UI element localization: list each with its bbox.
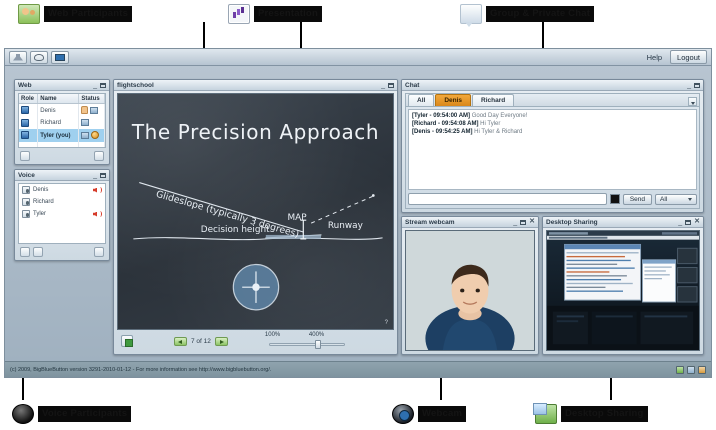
people-icon bbox=[18, 4, 40, 24]
status-audio-icon[interactable] bbox=[698, 366, 706, 374]
participants-toolbar-button[interactable] bbox=[9, 51, 27, 64]
label-runway: Runway bbox=[328, 221, 363, 231]
zoom-min-label: 100% bbox=[265, 332, 280, 338]
chat-message-header: [Tyler - 09:54:00 AM] bbox=[412, 113, 470, 119]
window-titlebar[interactable]: flightschool _ bbox=[114, 80, 397, 91]
slide-page-label: 7 of 12 bbox=[191, 338, 211, 345]
webcam-frame bbox=[406, 231, 534, 350]
send-button[interactable]: Send bbox=[623, 194, 652, 205]
callout-web-participants: Web Participants bbox=[18, 4, 132, 24]
voice-participants-footer bbox=[18, 245, 106, 258]
callout-desktop-sharing: Desktop Sharing bbox=[535, 404, 648, 424]
maximize-icon[interactable] bbox=[685, 220, 691, 225]
presentation-window: flightschool _ The Precision Approach bbox=[113, 79, 398, 355]
screenshot-root: Web Participants Presentation Group & Pr… bbox=[0, 0, 716, 430]
callout-voice-participants: Voice Participants bbox=[12, 404, 131, 424]
shared-screen-frame bbox=[547, 231, 699, 350]
window-titlebar[interactable]: Web _ bbox=[15, 80, 109, 91]
microphone-icon[interactable] bbox=[22, 210, 30, 218]
column-status: Status bbox=[79, 94, 105, 104]
leader-line-desktop-sharing bbox=[610, 378, 612, 400]
slide-navigation: 7 of 12 bbox=[174, 337, 228, 346]
chat-message-log[interactable]: [Tyler - 09:54:00 AM] Good Day Everyone!… bbox=[408, 109, 697, 190]
callout-label: Web Participants bbox=[44, 6, 132, 22]
window-title: flightschool bbox=[117, 82, 154, 89]
chat-message: [Richard - 09:54:08 AM] Hi Tyler bbox=[412, 120, 693, 128]
table-row-empty bbox=[19, 142, 105, 148]
chart-icon bbox=[228, 4, 250, 24]
window-title: Stream webcam bbox=[405, 219, 455, 226]
chat-message-header: [Denis - 09:54:25 AM] bbox=[412, 129, 472, 135]
app-desktop: Web _ Role Name Status bbox=[5, 66, 711, 362]
zoom-slider-track[interactable] bbox=[269, 343, 345, 346]
window-controls: _ ✕ bbox=[513, 219, 535, 226]
callout-label: Voice Participants bbox=[38, 406, 131, 422]
audio-toolbar-button[interactable] bbox=[30, 51, 48, 64]
logout-button[interactable]: Logout bbox=[670, 50, 707, 64]
settings-button[interactable] bbox=[94, 151, 104, 161]
callout-label: Desktop Sharing bbox=[561, 406, 648, 422]
microphone-icon[interactable] bbox=[22, 186, 30, 194]
chevron-down-icon[interactable] bbox=[688, 97, 697, 106]
viewer-icon bbox=[21, 119, 29, 127]
raise-hand-icon[interactable] bbox=[81, 106, 88, 114]
list-item[interactable]: Denis bbox=[19, 184, 105, 196]
tab-richard[interactable]: Richard bbox=[472, 94, 514, 106]
minimize-icon[interactable]: _ bbox=[381, 82, 385, 89]
statusbar-icons bbox=[676, 366, 706, 374]
window-title: Web bbox=[18, 82, 32, 89]
chevron-down-icon bbox=[688, 198, 692, 201]
presentation-body: The Precision Approach bbox=[117, 93, 394, 330]
window-title: Desktop Sharing bbox=[546, 219, 598, 226]
help-link[interactable]: Help bbox=[642, 52, 667, 63]
app-statusbar: (c) 2009, BigBlueButton version 3291-201… bbox=[5, 361, 711, 377]
chat-window: Chat _ All Denis Richard [ bbox=[401, 79, 704, 213]
speaker-icon bbox=[93, 210, 102, 218]
chat-message-text: Hi Tyler & Richard bbox=[474, 129, 522, 135]
cell-role bbox=[19, 129, 38, 142]
close-icon[interactable]: ✕ bbox=[529, 219, 535, 225]
web-participants-body: Role Name Status Denis bbox=[18, 93, 106, 148]
slide-corner-mark: ? bbox=[385, 320, 388, 326]
maximize-icon[interactable] bbox=[694, 83, 700, 88]
tab-all[interactable]: All bbox=[408, 94, 434, 106]
maximize-icon[interactable] bbox=[388, 83, 394, 88]
callout-webcam: Webcam bbox=[392, 404, 466, 424]
raise-hand-button[interactable] bbox=[20, 151, 30, 161]
chat-message: [Tyler - 09:54:00 AM] Good Day Everyone! bbox=[412, 112, 693, 120]
zoom-max-label: 400% bbox=[309, 332, 324, 338]
close-icon[interactable]: ✕ bbox=[694, 219, 700, 225]
leader-line-voice-participants bbox=[22, 378, 24, 400]
chat-message-text: Good Day Everyone! bbox=[472, 113, 528, 119]
maximize-icon[interactable] bbox=[100, 83, 106, 88]
slide-diagram: Glideslope (typically 3 degrees) MAP Dec… bbox=[118, 94, 393, 329]
shared-screen-image bbox=[547, 231, 699, 350]
webcam-icon bbox=[392, 404, 414, 424]
list-item[interactable]: Tyler bbox=[19, 208, 105, 220]
minimize-icon[interactable]: _ bbox=[678, 219, 682, 226]
presentation-toolbar: 7 of 12 100% 400% bbox=[117, 331, 394, 351]
window-titlebar[interactable]: Stream webcam _ ✕ bbox=[402, 217, 538, 228]
zoom-slider-thumb[interactable] bbox=[315, 340, 321, 349]
label-decision-height: Decision height bbox=[201, 225, 270, 235]
voice-settings-button[interactable] bbox=[94, 247, 104, 257]
table-row[interactable]: Richard bbox=[19, 117, 105, 129]
chat-body: All Denis Richard [Tyler - 09:54:00 AM] … bbox=[405, 93, 700, 209]
mute-all-button[interactable] bbox=[20, 247, 30, 257]
window-titlebar[interactable]: Voice _ bbox=[15, 170, 109, 181]
voice-participant-name: Denis bbox=[33, 187, 48, 193]
callout-presentation: Presentation bbox=[228, 4, 322, 24]
table-row[interactable]: Denis bbox=[19, 104, 105, 118]
screen-share-icon bbox=[535, 404, 557, 424]
leader-line-webcam bbox=[440, 378, 442, 400]
minimize-icon[interactable]: _ bbox=[93, 82, 97, 89]
tab-denis[interactable]: Denis bbox=[435, 94, 471, 106]
cell-status bbox=[79, 117, 105, 129]
window-controls: _ bbox=[93, 82, 106, 89]
callout-label: Presentation bbox=[254, 6, 322, 22]
next-slide-button[interactable] bbox=[215, 337, 228, 346]
status-screen-icon[interactable] bbox=[676, 366, 684, 374]
user-icon bbox=[13, 54, 23, 61]
window-title: Chat bbox=[405, 82, 419, 89]
cell-role bbox=[19, 117, 38, 129]
voice-participant-name: Richard bbox=[33, 199, 54, 205]
cell-role bbox=[19, 104, 38, 118]
cell-status bbox=[79, 129, 105, 142]
column-role: Role bbox=[19, 94, 38, 104]
text-color-swatch[interactable] bbox=[610, 194, 620, 204]
display-icon bbox=[55, 54, 65, 61]
slide-canvas[interactable]: The Precision Approach bbox=[118, 94, 393, 329]
cell-name: Tyler (you) bbox=[38, 129, 79, 142]
chat-recipient-value: All bbox=[660, 196, 667, 203]
chat-tabs: All Denis Richard bbox=[406, 94, 699, 107]
voice-participant-name: Tyler bbox=[33, 211, 46, 217]
desktop-sharing-body bbox=[546, 230, 700, 351]
webcam-body bbox=[405, 230, 535, 351]
chat-message-text: Hi Tyler bbox=[480, 121, 500, 127]
window-titlebar[interactable]: Desktop Sharing _ ✕ bbox=[543, 217, 703, 228]
presenter-icon[interactable] bbox=[90, 107, 98, 114]
maximize-icon[interactable] bbox=[520, 220, 526, 225]
minimize-icon[interactable]: _ bbox=[513, 219, 517, 226]
callout-label: Group & Private Chat bbox=[486, 6, 594, 22]
cell-status bbox=[79, 104, 105, 118]
microphone-icon bbox=[12, 404, 34, 424]
previous-slide-button[interactable] bbox=[174, 337, 187, 346]
chat-input-row: Send All bbox=[408, 192, 697, 206]
chat-message-header: [Richard - 09:54:08 AM] bbox=[412, 121, 478, 127]
status-video-icon[interactable] bbox=[687, 366, 695, 374]
presenter-icon[interactable] bbox=[81, 132, 89, 139]
window-title: Voice bbox=[18, 172, 35, 179]
mute-self-button[interactable] bbox=[33, 247, 43, 257]
chat-message: [Denis - 09:54:25 AM] Hi Tyler & Richard bbox=[412, 128, 693, 136]
copyright-text: (c) 2009, BigBlueButton version 3291-201… bbox=[10, 367, 271, 373]
minimize-icon[interactable]: _ bbox=[93, 172, 97, 179]
column-name: Name bbox=[38, 94, 79, 104]
cell-name: Denis bbox=[38, 104, 79, 118]
maximize-icon[interactable] bbox=[100, 173, 106, 178]
chat-input[interactable] bbox=[408, 193, 607, 205]
window-controls: _ ✕ bbox=[678, 219, 700, 226]
webcam-window: Stream webcam _ ✕ bbox=[401, 216, 539, 355]
list-item[interactable]: Richard bbox=[19, 196, 105, 208]
presenter-icon[interactable] bbox=[81, 119, 89, 126]
web-participants-window: Web _ Role Name Status bbox=[14, 79, 110, 165]
label-map: MAP bbox=[288, 213, 308, 223]
moderator-icon[interactable] bbox=[91, 131, 99, 139]
speaker-icon bbox=[93, 186, 102, 194]
cell-name: Richard bbox=[38, 117, 79, 129]
window-controls: _ bbox=[93, 172, 106, 179]
headset-icon bbox=[34, 54, 44, 61]
voice-participants-body: Denis Richard Tyler bbox=[18, 183, 106, 244]
minimize-icon[interactable]: _ bbox=[687, 82, 691, 89]
chat-bubble-icon bbox=[460, 4, 482, 24]
callout-label: Webcam bbox=[418, 406, 466, 422]
table-row[interactable]: Tyler (you) bbox=[19, 129, 105, 142]
video-toolbar-button[interactable] bbox=[51, 51, 69, 64]
viewer-icon bbox=[21, 131, 29, 139]
chat-recipient-select[interactable]: All bbox=[655, 194, 697, 205]
webcam-video bbox=[406, 231, 534, 350]
web-participants-footer bbox=[18, 149, 106, 162]
app-toolbar: Help Logout bbox=[5, 49, 711, 66]
window-controls: _ bbox=[381, 82, 394, 89]
callout-group-private-chat: Group & Private Chat bbox=[460, 4, 594, 24]
zoom-slider[interactable]: 100% 400% bbox=[263, 332, 351, 350]
microphone-icon[interactable] bbox=[22, 198, 30, 206]
voice-participants-window: Voice _ Denis Richard bbox=[14, 169, 110, 261]
table-header-row: Role Name Status bbox=[19, 94, 105, 104]
window-titlebar[interactable]: Chat _ bbox=[402, 80, 703, 91]
desktop-sharing-window: Desktop Sharing _ ✕ bbox=[542, 216, 704, 355]
participants-table: Role Name Status Denis bbox=[19, 94, 105, 148]
upload-presentation-button[interactable] bbox=[121, 335, 133, 347]
bigbluebutton-app: Help Logout Web _ Role Name bbox=[4, 48, 712, 378]
viewer-icon bbox=[21, 106, 29, 114]
window-controls: _ bbox=[687, 82, 700, 89]
